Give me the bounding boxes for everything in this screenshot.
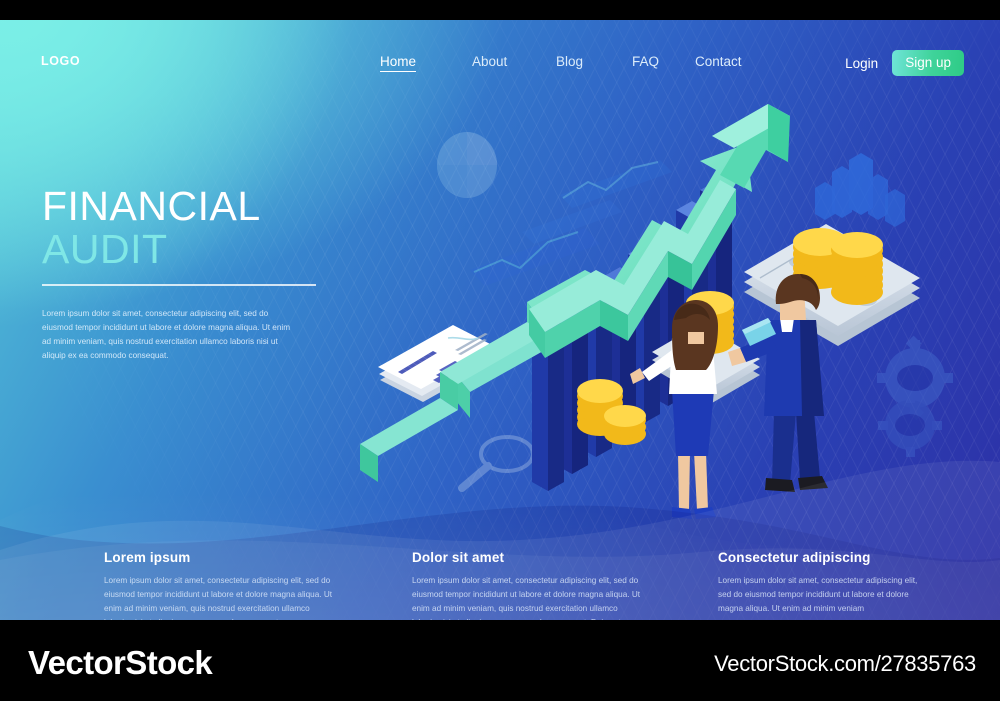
signup-button[interactable]: Sign up <box>892 50 964 76</box>
feature-2-title: Dolor sit amet <box>412 550 644 565</box>
nav-link-faq[interactable]: FAQ <box>632 54 659 69</box>
title-divider <box>42 284 316 286</box>
nav-link-contact[interactable]: Contact <box>695 54 742 69</box>
feature-column-1: Lorem ipsum Lorem ipsum dolor sit amet, … <box>104 550 336 620</box>
page-title-line1: FINANCIAL <box>42 185 261 228</box>
feature-1-body: Lorem ipsum dolor sit amet, consectetur … <box>104 574 336 620</box>
nav-link-about[interactable]: About <box>472 54 507 69</box>
gear-icons <box>877 336 953 457</box>
login-link[interactable]: Login <box>845 56 878 71</box>
hero-section: $ <box>0 20 1000 620</box>
top-navigation: LOGO Home About Blog FAQ Contact Login S… <box>0 20 1000 80</box>
site-logo[interactable]: LOGO <box>41 54 80 68</box>
watermark-url: VectorStock.com/27835763 <box>714 651 976 677</box>
page-title-line2: AUDIT <box>42 228 168 271</box>
feature-2-body: Lorem ipsum dolor sit amet, consectetur … <box>412 574 644 620</box>
feature-column-2: Dolor sit amet Lorem ipsum dolor sit ame… <box>412 550 644 620</box>
feature-column-3: Consectetur adipiscing Lorem ipsum dolor… <box>718 550 928 616</box>
nav-link-home[interactable]: Home <box>380 54 416 72</box>
watermark-brand: VectorStock <box>28 644 212 682</box>
feature-3-title: Consectetur adipiscing <box>718 550 928 565</box>
small-bar-chart-icon <box>815 153 905 227</box>
feature-1-title: Lorem ipsum <box>104 550 336 565</box>
auth-actions: Login Sign up <box>845 50 964 76</box>
watermark-footer: VectorStock VectorStock.com/27835763 <box>0 620 1000 701</box>
hero-body-text: Lorem ipsum dolor sit amet, consectetur … <box>42 307 300 363</box>
feature-3-body: Lorem ipsum dolor sit amet, consectetur … <box>718 574 928 616</box>
page-root: $ <box>0 0 1000 701</box>
nav-link-blog[interactable]: Blog <box>556 54 583 69</box>
nav-links: Home About Blog FAQ Contact <box>370 54 770 72</box>
pie-chart-icon <box>437 132 497 198</box>
